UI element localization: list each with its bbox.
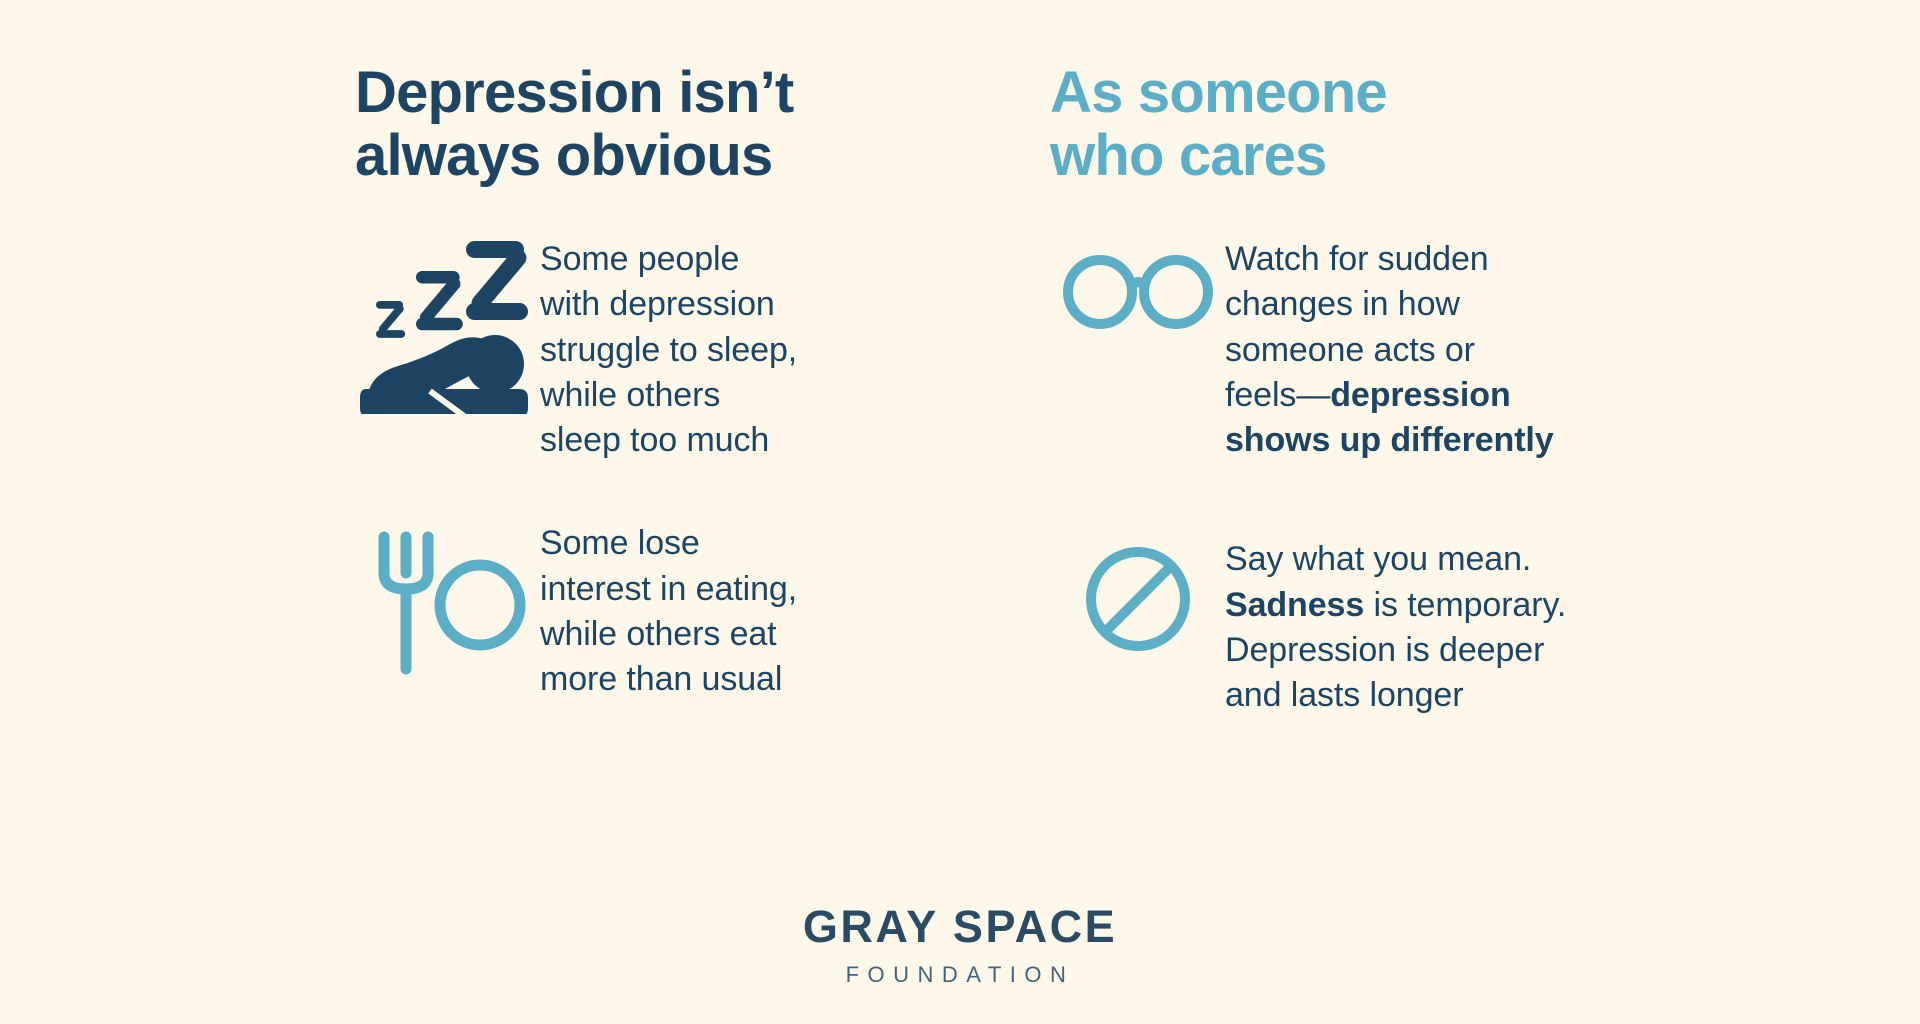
list-item-eating-text: Some lose interest in eating, while othe… (540, 519, 797, 702)
list-item-say-text: Say what you mean. Sadness is temporary.… (1225, 535, 1566, 718)
logo-primary-text: GRAY SPACE (0, 901, 1920, 953)
list-item-sleep-text: Some people with depression struggle to … (540, 235, 797, 463)
list-item-watch-text: Watch for sudden changes in how someone … (1225, 235, 1554, 463)
left-column: Depression isn’t always obvious (0, 62, 960, 762)
infographic-canvas: Depression isn’t always obvious (0, 0, 1920, 1024)
sleeping-person-zzz-icon (355, 235, 540, 414)
list-item-eating: Some lose interest in eating, while othe… (355, 519, 960, 702)
list-item-sleep: Some people with depression struggle to … (355, 235, 960, 463)
list-item-say: Say what you mean. Sadness is temporary.… (1050, 535, 1920, 718)
left-column-heading: Depression isn’t always obvious (355, 62, 960, 187)
footer-logo: GRAY SPACE FOUNDATION (0, 901, 1920, 988)
right-column-heading: As someone who cares (1050, 62, 1920, 187)
prohibition-sign-icon (1050, 535, 1225, 659)
columns-container: Depression isn’t always obvious (0, 62, 1920, 762)
logo-secondary-text: FOUNDATION (0, 962, 1920, 988)
eyeglasses-icon (1050, 235, 1225, 349)
right-column: As someone who cares Watch for sudden ch… (960, 62, 1920, 762)
fork-and-plate-icon (355, 519, 540, 683)
list-item-watch: Watch for sudden changes in how someone … (1050, 235, 1920, 463)
